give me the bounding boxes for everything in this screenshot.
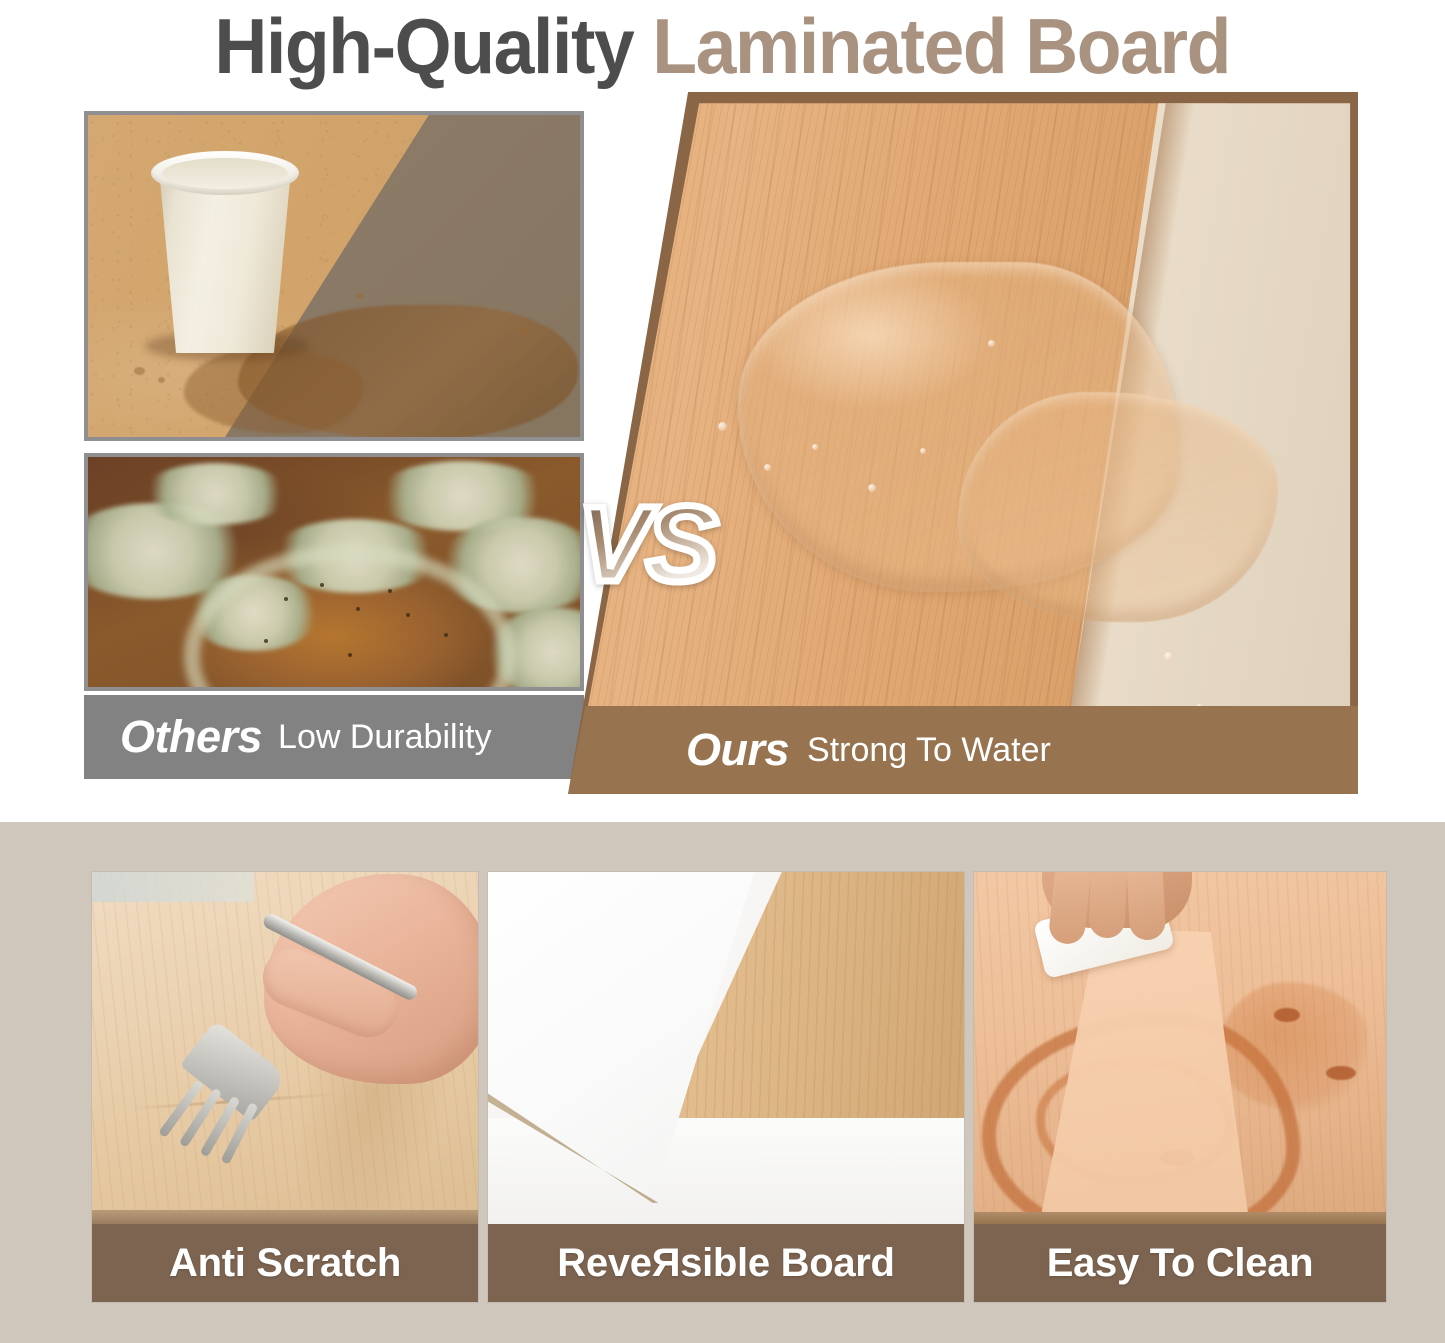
mold-spore-dot <box>356 607 360 611</box>
mold-spore-dot <box>264 639 268 643</box>
mold-spore-dot <box>406 613 410 617</box>
others-sublabel: Low Durability <box>278 718 492 757</box>
mold-patch <box>140 463 290 525</box>
paper-cup <box>143 145 307 353</box>
title-part-tan: Laminated Board <box>653 2 1231 90</box>
spill-droplet <box>158 377 165 383</box>
reversible-board-photo <box>488 872 964 1224</box>
feature-card-anti-scratch: Anti Scratch <box>92 872 478 1302</box>
ours-water-photo <box>568 92 1358 794</box>
others-caption-band: Others Low Durability <box>84 695 584 779</box>
title-text: High-Quality Laminated Board <box>215 7 1231 85</box>
spill-droplet <box>270 415 279 422</box>
page-title: High-Quality Laminated Board <box>0 0 1445 92</box>
feature-label: Easy To Clean <box>1047 1241 1314 1286</box>
others-mold-photo <box>84 453 584 691</box>
anti-scratch-photo <box>92 872 478 1224</box>
background-strip <box>92 872 254 902</box>
feature-card-easy-to-clean: Easy To Clean <box>974 872 1386 1302</box>
feature-caption-band: Easy To Clean <box>974 1224 1386 1302</box>
water-bead <box>920 448 926 454</box>
water-bead <box>868 484 876 492</box>
spill-droplet <box>518 327 528 334</box>
water-puddle-secondary <box>958 392 1278 622</box>
mold-spore-dot <box>444 633 448 637</box>
features-section: Anti Scratch ReveЯsible Board <box>0 822 1445 1343</box>
sauce-blob <box>1326 1066 1356 1080</box>
spill-droplet <box>134 367 145 375</box>
finger <box>1126 872 1166 941</box>
water-bead <box>718 422 727 431</box>
ours-label: Ours <box>686 724 789 776</box>
vs-badge: VS <box>578 490 714 598</box>
feature-card-reversible-board: ReveЯsible Board <box>488 872 964 1302</box>
others-spill-photo <box>84 111 584 441</box>
water-bead <box>1164 652 1173 661</box>
board-edge <box>974 1212 1386 1224</box>
water-bead <box>764 464 771 471</box>
sauce-spill-right <box>1218 982 1368 1112</box>
sauce-blob <box>1274 1008 1300 1022</box>
spill-droplet <box>356 293 364 299</box>
ours-panel: Ours Strong To Water <box>568 92 1358 794</box>
cup-interior <box>162 158 288 189</box>
finger <box>1089 872 1128 939</box>
title-part-dark: High-Quality <box>215 2 653 90</box>
feature-label: ReveЯsible Board <box>557 1241 894 1286</box>
others-label: Others <box>120 711 262 763</box>
feature-caption-band: Anti Scratch <box>92 1224 478 1302</box>
others-panel: Others Low Durability <box>84 111 584 783</box>
feature-label: Anti Scratch <box>169 1241 401 1286</box>
ours-sublabel: Strong To Water <box>807 731 1051 770</box>
ours-caption-band: Ours Strong To Water <box>568 706 1358 794</box>
mold-spore-dot <box>388 589 392 593</box>
comparison-section: Others Low Durability <box>0 92 1445 802</box>
water-bead <box>988 340 995 347</box>
ours-frame: Ours Strong To Water <box>568 92 1358 794</box>
water-bead <box>812 444 818 450</box>
easy-to-clean-photo <box>974 872 1386 1224</box>
mold-spore-dot <box>284 597 288 601</box>
feature-caption-band: ReveЯsible Board <box>488 1224 964 1302</box>
board-edge <box>92 1210 478 1224</box>
mold-spore-dot <box>320 583 324 587</box>
mold-spore-dot <box>348 653 352 657</box>
